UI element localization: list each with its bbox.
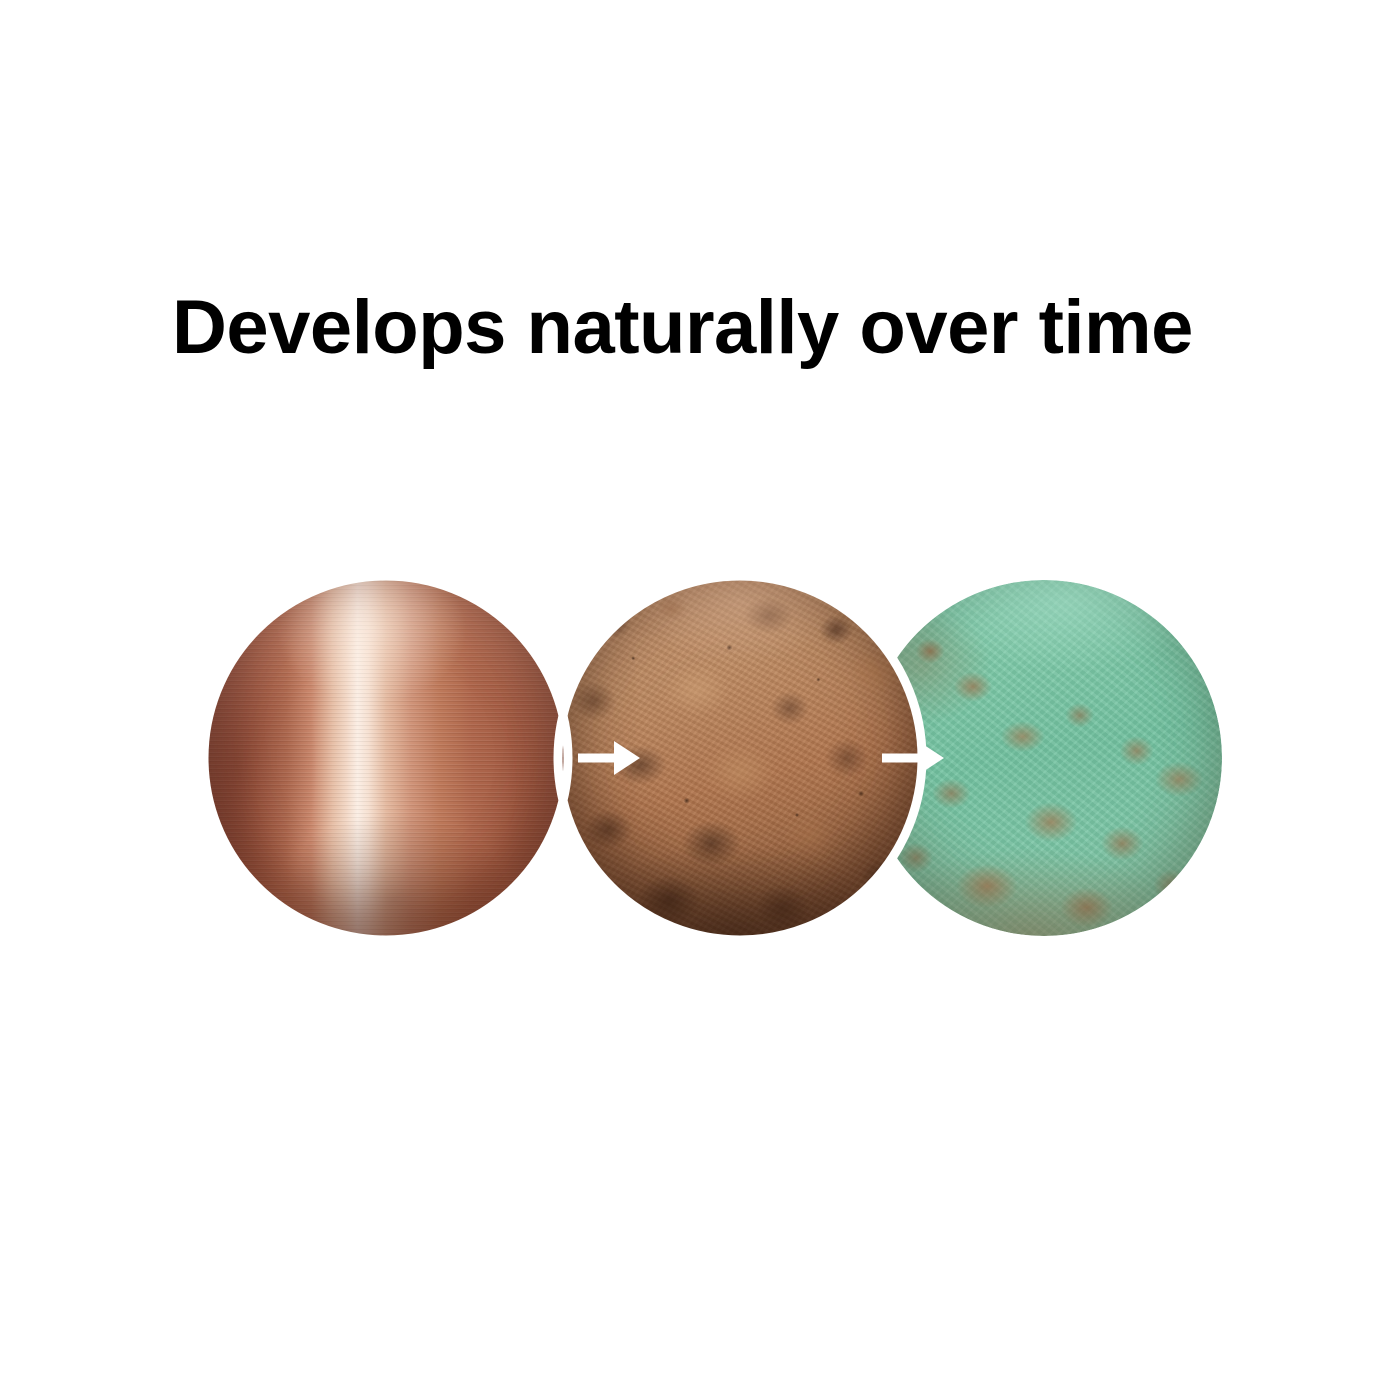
weathered-copper-texture [562, 580, 918, 936]
stage-circle-weathered-copper[interactable] [562, 580, 918, 936]
slide-canvas: Develops naturally over time [0, 0, 1400, 1400]
green-patina-texture [866, 580, 1222, 936]
stage-circle-polished-copper[interactable] [208, 580, 564, 936]
stage-circle-green-patina[interactable] [866, 580, 1222, 936]
polished-copper-texture [208, 580, 564, 936]
patina-process-diagram [0, 0, 1400, 1400]
